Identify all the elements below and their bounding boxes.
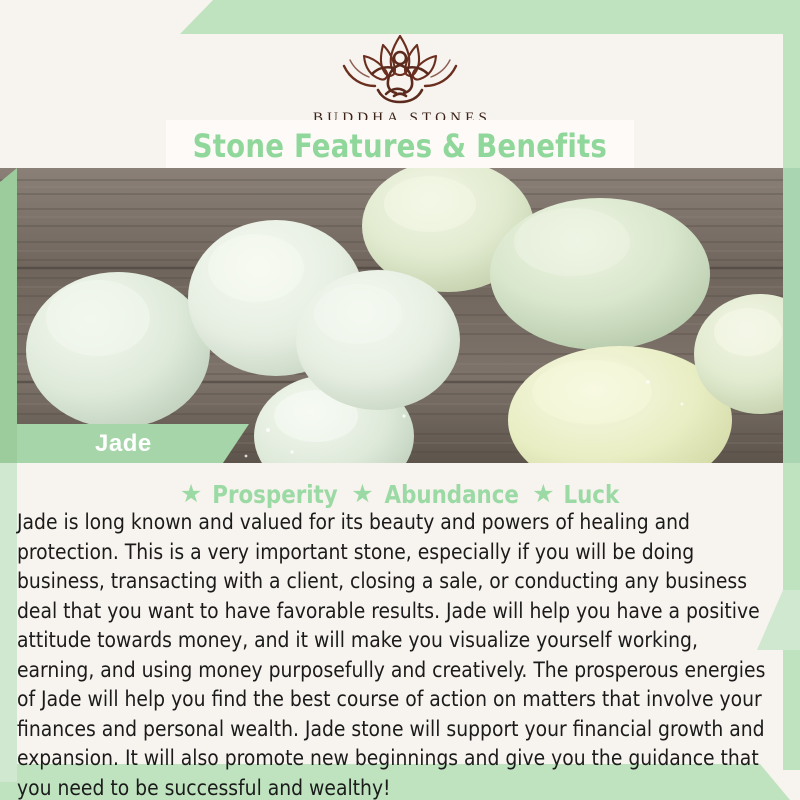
stone-info-card: BUDDHA STONES Stone Features & Benefits: [0, 0, 800, 800]
right-green-band-photo: [783, 168, 800, 463]
benefit-item-luck: ★ Luck: [532, 480, 620, 509]
stone-name: Jade: [95, 430, 152, 458]
benefit-label: Prosperity: [213, 480, 338, 509]
benefit-label: Luck: [563, 480, 619, 509]
page-title-bar: Stone Features & Benefits: [166, 120, 634, 172]
description-text: Jade is long known and valued for its be…: [17, 508, 768, 800]
star-icon: ★: [351, 482, 373, 507]
stone-description: Jade is long known and valued for its be…: [17, 508, 768, 800]
benefit-item-abundance: ★ Abundance: [351, 480, 522, 509]
benefit-label: Abundance: [384, 480, 518, 509]
brand-logo: BUDDHA STONES: [0, 26, 800, 127]
page-title: Stone Features & Benefits: [193, 127, 607, 165]
stone-name-banner: Jade: [17, 424, 249, 463]
benefit-item-prosperity: ★ Prosperity: [180, 480, 341, 509]
jade-stones-image: [0, 168, 800, 463]
lotus-meditation-icon: [320, 26, 480, 104]
star-icon: ★: [532, 482, 554, 507]
benefits-row: ★ Prosperity ★ Abundance ★ Luck: [0, 477, 800, 511]
star-icon: ★: [180, 482, 202, 507]
stone-photo: [0, 168, 800, 463]
